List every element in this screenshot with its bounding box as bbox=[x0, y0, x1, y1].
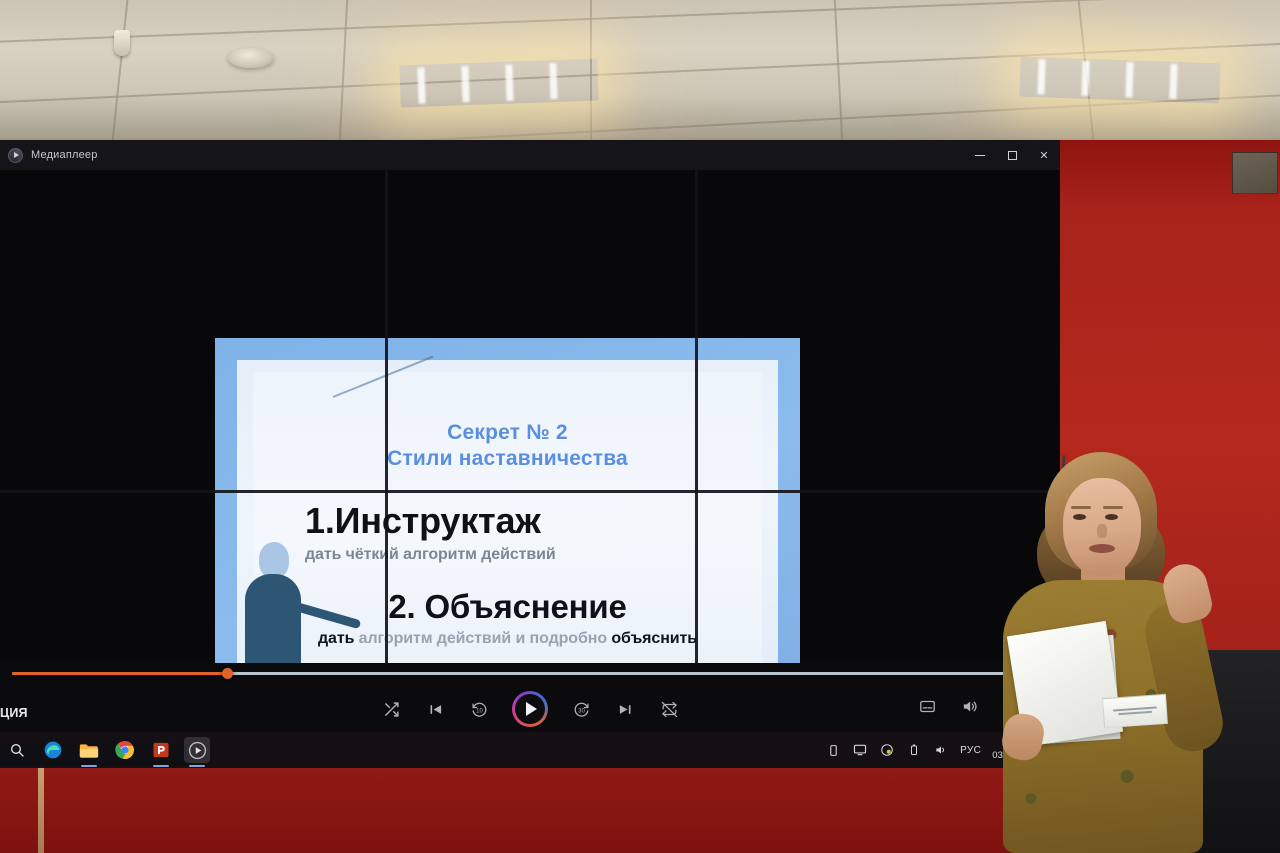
slide-title: Секрет № 2 Стили наставничества bbox=[253, 420, 762, 473]
ceiling bbox=[0, 0, 1280, 152]
file-explorer-icon[interactable] bbox=[76, 737, 102, 763]
close-icon: ✕ bbox=[1039, 149, 1048, 162]
progress-bar-fill bbox=[12, 672, 227, 675]
slide-title-line2: Стили наставничества bbox=[253, 446, 762, 472]
subtitles-icon[interactable] bbox=[916, 695, 938, 717]
volume-icon[interactable] bbox=[958, 695, 980, 717]
next-track-icon[interactable] bbox=[614, 698, 636, 720]
minimize-button[interactable] bbox=[964, 140, 996, 170]
presenter-name-badge bbox=[1102, 694, 1168, 728]
search-icon[interactable] bbox=[4, 737, 30, 763]
slide-subtitle-1: дать чёткий алгоритм действий bbox=[305, 546, 744, 564]
minimize-icon bbox=[975, 155, 985, 156]
presentation-slide: Секрет № 2 Стили наставничества 1.Инстру… bbox=[215, 338, 800, 663]
playback-progress-row[interactable] bbox=[0, 663, 1060, 683]
sprinkler-head-icon bbox=[114, 30, 130, 56]
progress-scrubber-handle[interactable] bbox=[222, 668, 233, 679]
presentation-room-scene: Медиаплеер ✕ Секрет № 2 bbox=[0, 0, 1280, 853]
media-player-taskbar-icon[interactable] bbox=[184, 737, 210, 763]
rewind-10-icon[interactable]: 10 bbox=[468, 698, 490, 720]
slide-title-line1: Секрет № 2 bbox=[447, 421, 568, 444]
play-icon bbox=[526, 702, 537, 716]
battery-icon[interactable] bbox=[906, 742, 922, 758]
progress-bar[interactable] bbox=[12, 672, 1046, 675]
media-player-icon bbox=[8, 148, 23, 163]
edge-browser-icon[interactable] bbox=[40, 737, 66, 763]
usb-device-icon[interactable] bbox=[825, 742, 841, 758]
smoke-detector-icon bbox=[228, 48, 274, 68]
videowall-bezel-vertical-2 bbox=[695, 170, 698, 663]
slide-body: 1.Инструктаж дать чёткий алгоритм действ… bbox=[271, 500, 744, 663]
ceiling-light-left bbox=[399, 59, 598, 108]
wall-vent-panel bbox=[1232, 152, 1278, 194]
presenter-person bbox=[985, 452, 1235, 853]
play-pause-button[interactable] bbox=[512, 691, 548, 727]
shuffle-icon[interactable] bbox=[380, 698, 402, 720]
slide-heading-1: 1.Инструктаж bbox=[305, 500, 744, 542]
svg-text:30: 30 bbox=[578, 708, 585, 714]
chrome-browser-icon[interactable] bbox=[112, 737, 138, 763]
network-icon[interactable] bbox=[879, 742, 895, 758]
taskbar-pinned-apps[interactable] bbox=[0, 737, 210, 763]
svg-text:10: 10 bbox=[476, 708, 483, 714]
media-player-window[interactable]: Медиаплеер ✕ Секрет № 2 bbox=[0, 140, 1060, 732]
display-icon[interactable] bbox=[852, 742, 868, 758]
repeat-off-icon[interactable] bbox=[658, 698, 680, 720]
window-titlebar[interactable]: Медиаплеер ✕ bbox=[0, 140, 1060, 170]
wall-light-strip bbox=[38, 760, 44, 853]
previous-track-icon[interactable] bbox=[424, 698, 446, 720]
close-button[interactable]: ✕ bbox=[1028, 140, 1060, 170]
slide-subtitle-2-part3: объяснить bbox=[611, 630, 697, 647]
slide-presenter-silhouette bbox=[237, 542, 317, 663]
slide-subtitle-2-part1: дать bbox=[318, 630, 354, 647]
video-playback-area[interactable]: Секрет № 2 Стили наставничества 1.Инстру… bbox=[0, 170, 1060, 663]
forward-30-icon[interactable]: 30 bbox=[570, 698, 592, 720]
overlay-caption-text: ЦИЯ bbox=[0, 706, 28, 720]
videowall-bezel-vertical-1 bbox=[385, 170, 388, 663]
window-title: Медиаплеер bbox=[31, 149, 98, 161]
volume-tray-icon[interactable] bbox=[933, 742, 949, 758]
maximize-button[interactable] bbox=[996, 140, 1028, 170]
windows-taskbar[interactable]: РУС 14:2 03.04.2 bbox=[0, 732, 1060, 768]
player-controls-bar[interactable]: 10 30 bbox=[0, 683, 1060, 732]
maximize-icon bbox=[1008, 151, 1017, 160]
transport-controls[interactable]: 10 30 bbox=[380, 691, 680, 727]
language-indicator[interactable]: РУС bbox=[960, 745, 981, 756]
window-controls[interactable]: ✕ bbox=[964, 140, 1060, 170]
ceiling-light-right bbox=[1019, 57, 1220, 104]
videowall-bezel-horizontal-1 bbox=[0, 490, 1060, 493]
slide-subtitle-2-part2: алгоритм действий и подробно bbox=[354, 630, 611, 647]
powerpoint-icon[interactable] bbox=[148, 737, 174, 763]
slide-subtitle-2: дать алгоритм действий и подробно объясн… bbox=[271, 630, 744, 648]
